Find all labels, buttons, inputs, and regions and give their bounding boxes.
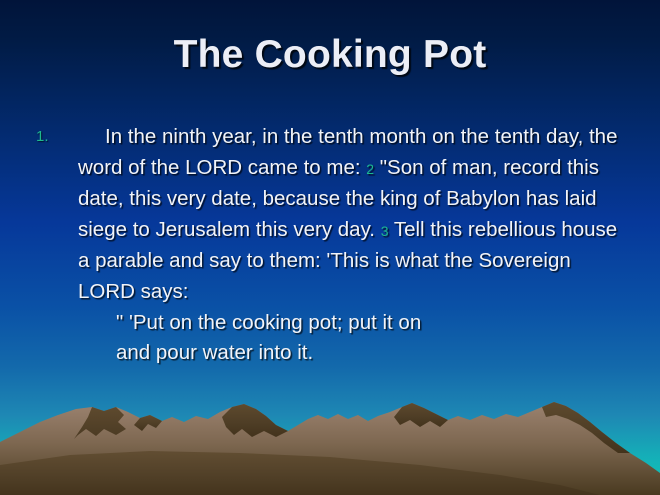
scripture-quote-block: " 'Put on the cooking pot; put it on and… xyxy=(36,308,626,369)
presentation-slide: The Cooking Pot 1. In the ninth year, in… xyxy=(0,0,660,495)
mountain-shadow-foot xyxy=(0,451,600,495)
mountain-shadow-right-a xyxy=(394,403,448,427)
mountain-shadow-right-b xyxy=(542,402,630,453)
verse-number-3: 3 xyxy=(381,223,389,239)
list-marker: 1. xyxy=(36,128,49,145)
mountain-shadow-mid-b xyxy=(222,404,288,437)
slide-body: 1. In the ninth year, in the tenth month… xyxy=(36,122,626,369)
mountain-landscape-graphic xyxy=(0,395,660,495)
mountain-shadow-left xyxy=(62,407,126,451)
quote-line-2: and pour water into it. xyxy=(116,338,626,369)
quote-line-1: " 'Put on the cooking pot; put it on xyxy=(116,308,626,339)
scripture-paragraph: In the ninth year, in the tenth month on… xyxy=(36,122,626,308)
slide-title: The Cooking Pot xyxy=(0,33,660,77)
verse-number-2: 2 xyxy=(366,161,374,177)
mountain-shadow-mid-a xyxy=(134,415,162,431)
mountain-ridge-light xyxy=(0,402,660,495)
